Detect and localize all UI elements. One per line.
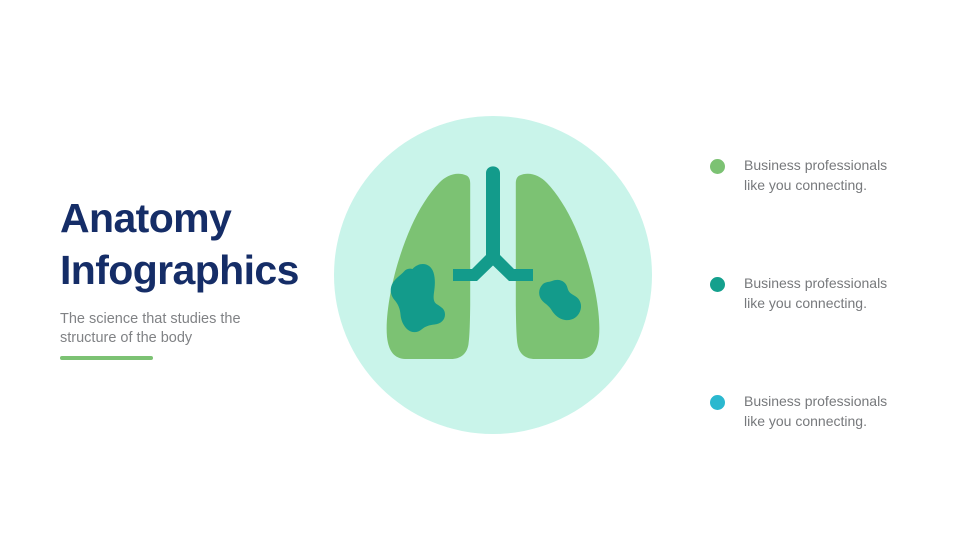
list-item[interactable]: Business professionals like you connecti… (710, 391, 910, 431)
accent-rule (60, 356, 153, 360)
slide-canvas: Anatomy Infographics The science that st… (0, 0, 980, 551)
bullet-text: Business professionals like you connecti… (744, 273, 910, 313)
page-subtitle: The science that studies the structure o… (60, 310, 270, 348)
title-block: Anatomy Infographics The science that st… (60, 192, 330, 348)
list-item[interactable]: Business professionals like you connecti… (710, 273, 910, 313)
lungs-illustration-svg (333, 115, 653, 435)
bullet-dot-icon (710, 159, 725, 174)
bullet-dot-icon (710, 277, 725, 292)
page-title: Anatomy Infographics (60, 192, 330, 296)
bullet-text: Business professionals like you connecti… (744, 391, 910, 431)
list-item[interactable]: Business professionals like you connecti… (710, 155, 910, 195)
bullet-list: Business professionals like you connecti… (710, 155, 910, 431)
background-circle (334, 116, 652, 434)
bullet-dot-icon (710, 395, 725, 410)
lungs-illustration (333, 115, 653, 435)
bullet-text: Business professionals like you connecti… (744, 155, 910, 195)
